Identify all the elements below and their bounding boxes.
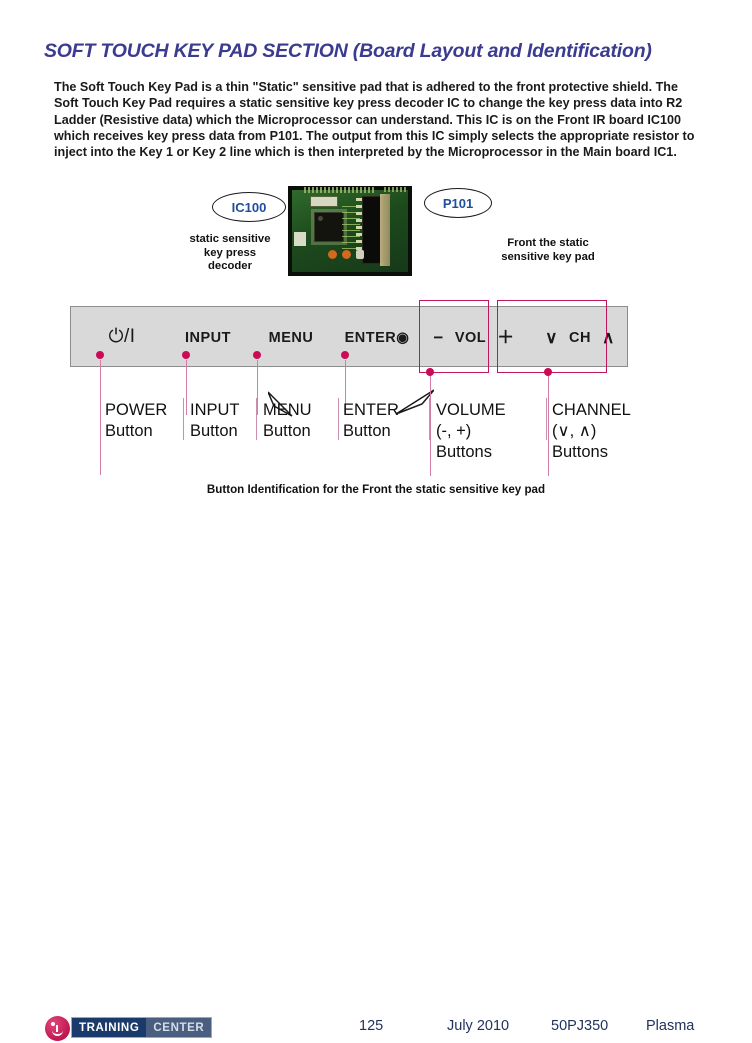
decoder-line-1: static sensitive bbox=[189, 233, 270, 245]
callout-ic100-label: IC100 bbox=[232, 200, 267, 215]
leader-line-input bbox=[186, 360, 187, 415]
key-input[interactable]: INPUT bbox=[165, 307, 251, 368]
lg-eye bbox=[51, 1022, 55, 1026]
key-menu[interactable]: MENU bbox=[251, 307, 331, 368]
power-icon: ⏻/I bbox=[108, 327, 135, 346]
decoder-description: static sensitive key press decoder bbox=[178, 233, 282, 274]
badge-training-label: TRAINING bbox=[72, 1018, 146, 1037]
ident-channel-line3: Buttons bbox=[552, 442, 631, 463]
callout-p101: P101 bbox=[424, 188, 492, 218]
decoder-line-2: key press bbox=[204, 247, 256, 259]
key-menu-label: MENU bbox=[269, 330, 314, 346]
ident-power-line2: Button bbox=[105, 421, 167, 442]
pcb-silkscreen-p101 bbox=[384, 187, 406, 192]
ident-channel-line1: CHANNEL bbox=[552, 401, 631, 419]
board-photo-section bbox=[0, 182, 752, 294]
pcb-ribbon bbox=[380, 194, 390, 266]
highlight-box-volume bbox=[419, 300, 489, 373]
dot-enter bbox=[341, 351, 349, 359]
highlight-box-channel bbox=[497, 300, 607, 373]
dot-power bbox=[96, 351, 104, 359]
front-pad-description: Front the static sensitive key pad bbox=[486, 237, 610, 264]
pcb-component-3 bbox=[356, 250, 364, 259]
key-enter-label: ENTER◉ bbox=[345, 330, 410, 346]
leader-line-menu bbox=[257, 360, 258, 415]
pcb-capacitor-1 bbox=[328, 250, 337, 259]
ident-input: INPUT Button bbox=[190, 400, 240, 442]
ident-enter: ENTER Button bbox=[343, 400, 399, 442]
divider-5 bbox=[546, 398, 547, 440]
divider-1 bbox=[183, 398, 184, 440]
ident-power: POWER Button bbox=[105, 400, 167, 442]
training-center-badge: TRAINING CENTER bbox=[71, 1017, 212, 1038]
body-paragraph: The Soft Touch Key Pad is a thin "Static… bbox=[54, 79, 704, 160]
dot-input bbox=[182, 351, 190, 359]
leader-line-volume bbox=[430, 368, 431, 476]
ident-volume-line2: (-, +) bbox=[436, 421, 506, 442]
dot-channel bbox=[544, 368, 552, 376]
badge-center-label: CENTER bbox=[146, 1018, 211, 1037]
leader-line-channel bbox=[548, 368, 549, 476]
divider-2 bbox=[256, 398, 257, 440]
footer-type: Plasma bbox=[646, 1018, 694, 1034]
key-input-label: INPUT bbox=[185, 330, 231, 346]
ident-channel-line2: (∨, ∧) bbox=[552, 421, 631, 442]
ident-volume: VOLUME (-, +) Buttons bbox=[436, 400, 506, 463]
key-power[interactable]: ⏻/I bbox=[79, 307, 165, 368]
dot-menu bbox=[253, 351, 261, 359]
ident-enter-line1: ENTER bbox=[343, 401, 399, 419]
ident-enter-line2: Button bbox=[343, 421, 399, 442]
figure-caption: Button Identification for the Front the … bbox=[0, 483, 752, 496]
ident-menu-line2: Button bbox=[263, 421, 312, 442]
dot-volume bbox=[426, 368, 434, 376]
pcb-solder-pad bbox=[294, 232, 306, 246]
front-ir-board-photo bbox=[288, 186, 412, 276]
page-footer: LG TRAINING CENTER 125 July 2010 50PJ350… bbox=[0, 506, 752, 546]
ident-menu-line1: MENU bbox=[263, 401, 312, 419]
lg-face-icon bbox=[45, 1016, 70, 1041]
ident-input-line2: Button bbox=[190, 421, 240, 442]
divider-4 bbox=[429, 398, 430, 440]
pcb-smd-array bbox=[310, 196, 338, 207]
pcb-silkscreen-top bbox=[304, 187, 374, 193]
pcb-capacitor-2 bbox=[342, 250, 351, 259]
front-pad-line-2: sensitive key pad bbox=[501, 251, 595, 263]
callout-ic100: IC100 bbox=[212, 192, 286, 222]
ident-volume-line3: Buttons bbox=[436, 442, 506, 463]
leader-line-power bbox=[100, 360, 101, 475]
footer-date: July 2010 bbox=[447, 1018, 509, 1034]
ident-volume-line1: VOLUME bbox=[436, 401, 506, 419]
decoder-line-3: decoder bbox=[208, 260, 252, 272]
footer-page-number: 125 bbox=[359, 1018, 383, 1034]
ident-channel: CHANNEL (∨, ∧) Buttons bbox=[552, 400, 631, 463]
lg-mouth bbox=[52, 1028, 63, 1036]
ident-menu: MENU Button bbox=[263, 400, 312, 442]
callout-p101-label: P101 bbox=[443, 196, 473, 211]
front-pad-line-1: Front the static bbox=[507, 237, 589, 249]
page-title: SOFT TOUCH KEY PAD SECTION (Board Layout… bbox=[44, 40, 652, 63]
pcb-decoder-ic bbox=[314, 212, 344, 242]
ident-input-line1: INPUT bbox=[190, 401, 240, 419]
divider-3 bbox=[338, 398, 339, 440]
ident-power-line1: POWER bbox=[105, 401, 167, 419]
footer-model: 50PJ350 bbox=[551, 1018, 608, 1034]
